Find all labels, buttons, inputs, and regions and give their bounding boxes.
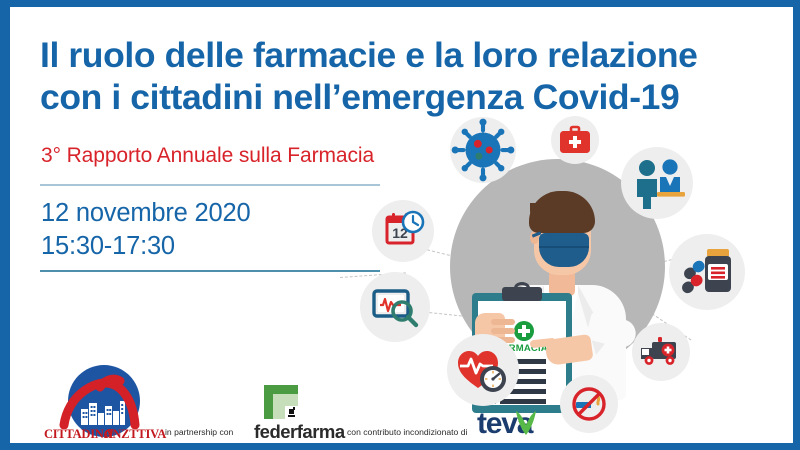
- pharmacist-counter-icon: [621, 147, 693, 219]
- node-no-smoking[interactable]: [560, 375, 618, 433]
- screen-search-icon: [360, 272, 430, 342]
- event-date: 12 novembre 2020: [41, 197, 250, 230]
- federfarma-wordmark[interactable]: federfarma: [254, 421, 345, 443]
- node-data-analysis[interactable]: [360, 272, 430, 342]
- clipboard-clamp-ring: [514, 282, 530, 294]
- node-ambulance[interactable]: [632, 323, 690, 381]
- face-mask-fold: [539, 246, 589, 248]
- logo-figure: [56, 367, 154, 429]
- heart-rate-timer-icon: [447, 334, 519, 406]
- event-time: 15:30-17:30: [41, 230, 250, 263]
- poster-subtitle: 3° Rapporto Annuale sulla Farmacia: [41, 144, 374, 168]
- poster-canvas: Il ruolo delle farmacie e la loro relazi…: [10, 7, 793, 443]
- title-line-2: con i cittadini nell’emergenza Covid-19: [40, 77, 760, 119]
- logo-accent-letter: a: [104, 422, 114, 443]
- logo-cittadinanzattiva[interactable]: CITTADINANZTTIVA a: [42, 365, 168, 443]
- no-smoking-icon: [560, 375, 618, 433]
- divider-bottom: [40, 270, 380, 272]
- divider-top: [40, 184, 380, 186]
- face-mask: [539, 233, 589, 267]
- event-datetime: 12 novembre 2020 15:30-17:30: [41, 197, 250, 262]
- node-heart-rate[interactable]: [447, 334, 519, 406]
- finger: [491, 319, 515, 325]
- medicine-bottle-icon: [669, 234, 745, 310]
- ambulance-icon: [632, 323, 690, 381]
- federfarma-logo-icon[interactable]: [264, 385, 298, 419]
- node-medicine[interactable]: [669, 234, 745, 310]
- calendar-clock-icon: 12: [372, 200, 434, 262]
- poster-frame: Il ruolo delle farmacie e la loro relazi…: [0, 0, 800, 450]
- teva-leaf-icon: [515, 410, 537, 436]
- first-aid-kit-icon: [551, 116, 599, 164]
- node-virus[interactable]: [450, 117, 516, 183]
- virus-icon: [450, 117, 516, 183]
- illustration: FARMACIA: [340, 117, 793, 437]
- title-line-1: Il ruolo delle farmacie e la loro relazi…: [40, 35, 760, 77]
- logo-word-part-2: TTIVA: [129, 427, 166, 441]
- contribution-label: con contributo incondizionato di: [347, 427, 467, 437]
- node-first-aid[interactable]: [551, 116, 599, 164]
- page-title: Il ruolo delle farmacie e la loro relazi…: [40, 35, 760, 118]
- partnership-label: in partnership con: [165, 427, 233, 437]
- node-calendar[interactable]: 12: [372, 200, 434, 262]
- logo-word-part-1: CITTADINANZ: [44, 427, 129, 441]
- node-pharmacist-counter[interactable]: [621, 147, 693, 219]
